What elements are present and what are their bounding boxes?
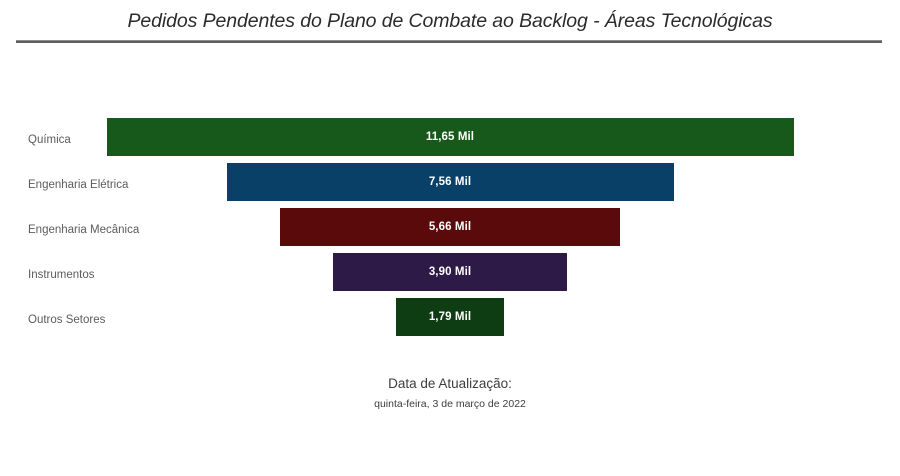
- funnel-bar-wrapper: 3,90 Mil: [0, 253, 900, 298]
- funnel-chart: Química11,65 MilEngenharia Elétrica7,56 …: [0, 118, 900, 358]
- update-label: Data de Atualização:: [0, 374, 900, 393]
- funnel-bar-wrapper: 5,66 Mil: [0, 208, 900, 253]
- chart-header: Pedidos Pendentes do Plano de Combate ao…: [0, 0, 900, 48]
- funnel-value-label: 11,65 Mil: [426, 131, 474, 143]
- funnel-bar[interactable]: 11,65 Mil: [107, 118, 794, 156]
- update-date: quinta-feira, 3 de março de 2022: [0, 395, 900, 413]
- funnel-row[interactable]: Química11,65 Mil: [0, 118, 900, 163]
- funnel-value-label: 1,79 Mil: [429, 311, 471, 323]
- funnel-bar-wrapper: 11,65 Mil: [0, 118, 900, 163]
- funnel-bar-wrapper: 1,79 Mil: [0, 298, 900, 343]
- page-title: Pedidos Pendentes do Plano de Combate ao…: [0, 10, 900, 33]
- funnel-bar-wrapper: 7,56 Mil: [0, 163, 900, 208]
- funnel-bar[interactable]: 1,79 Mil: [396, 298, 504, 336]
- chart-footer: Data de Atualização: quinta-feira, 3 de …: [0, 374, 900, 413]
- funnel-bar[interactable]: 5,66 Mil: [280, 208, 620, 246]
- funnel-bar[interactable]: 3,90 Mil: [333, 253, 567, 291]
- funnel-value-label: 5,66 Mil: [429, 221, 471, 233]
- funnel-row[interactable]: Engenharia Elétrica7,56 Mil: [0, 163, 900, 208]
- funnel-value-label: 3,90 Mil: [429, 266, 471, 278]
- funnel-row[interactable]: Instrumentos3,90 Mil: [0, 253, 900, 298]
- title-divider: [16, 40, 882, 43]
- funnel-row[interactable]: Outros Setores1,79 Mil: [0, 298, 900, 343]
- funnel-row[interactable]: Engenharia Mecânica5,66 Mil: [0, 208, 900, 253]
- funnel-bar[interactable]: 7,56 Mil: [227, 163, 674, 201]
- funnel-value-label: 7,56 Mil: [429, 176, 471, 188]
